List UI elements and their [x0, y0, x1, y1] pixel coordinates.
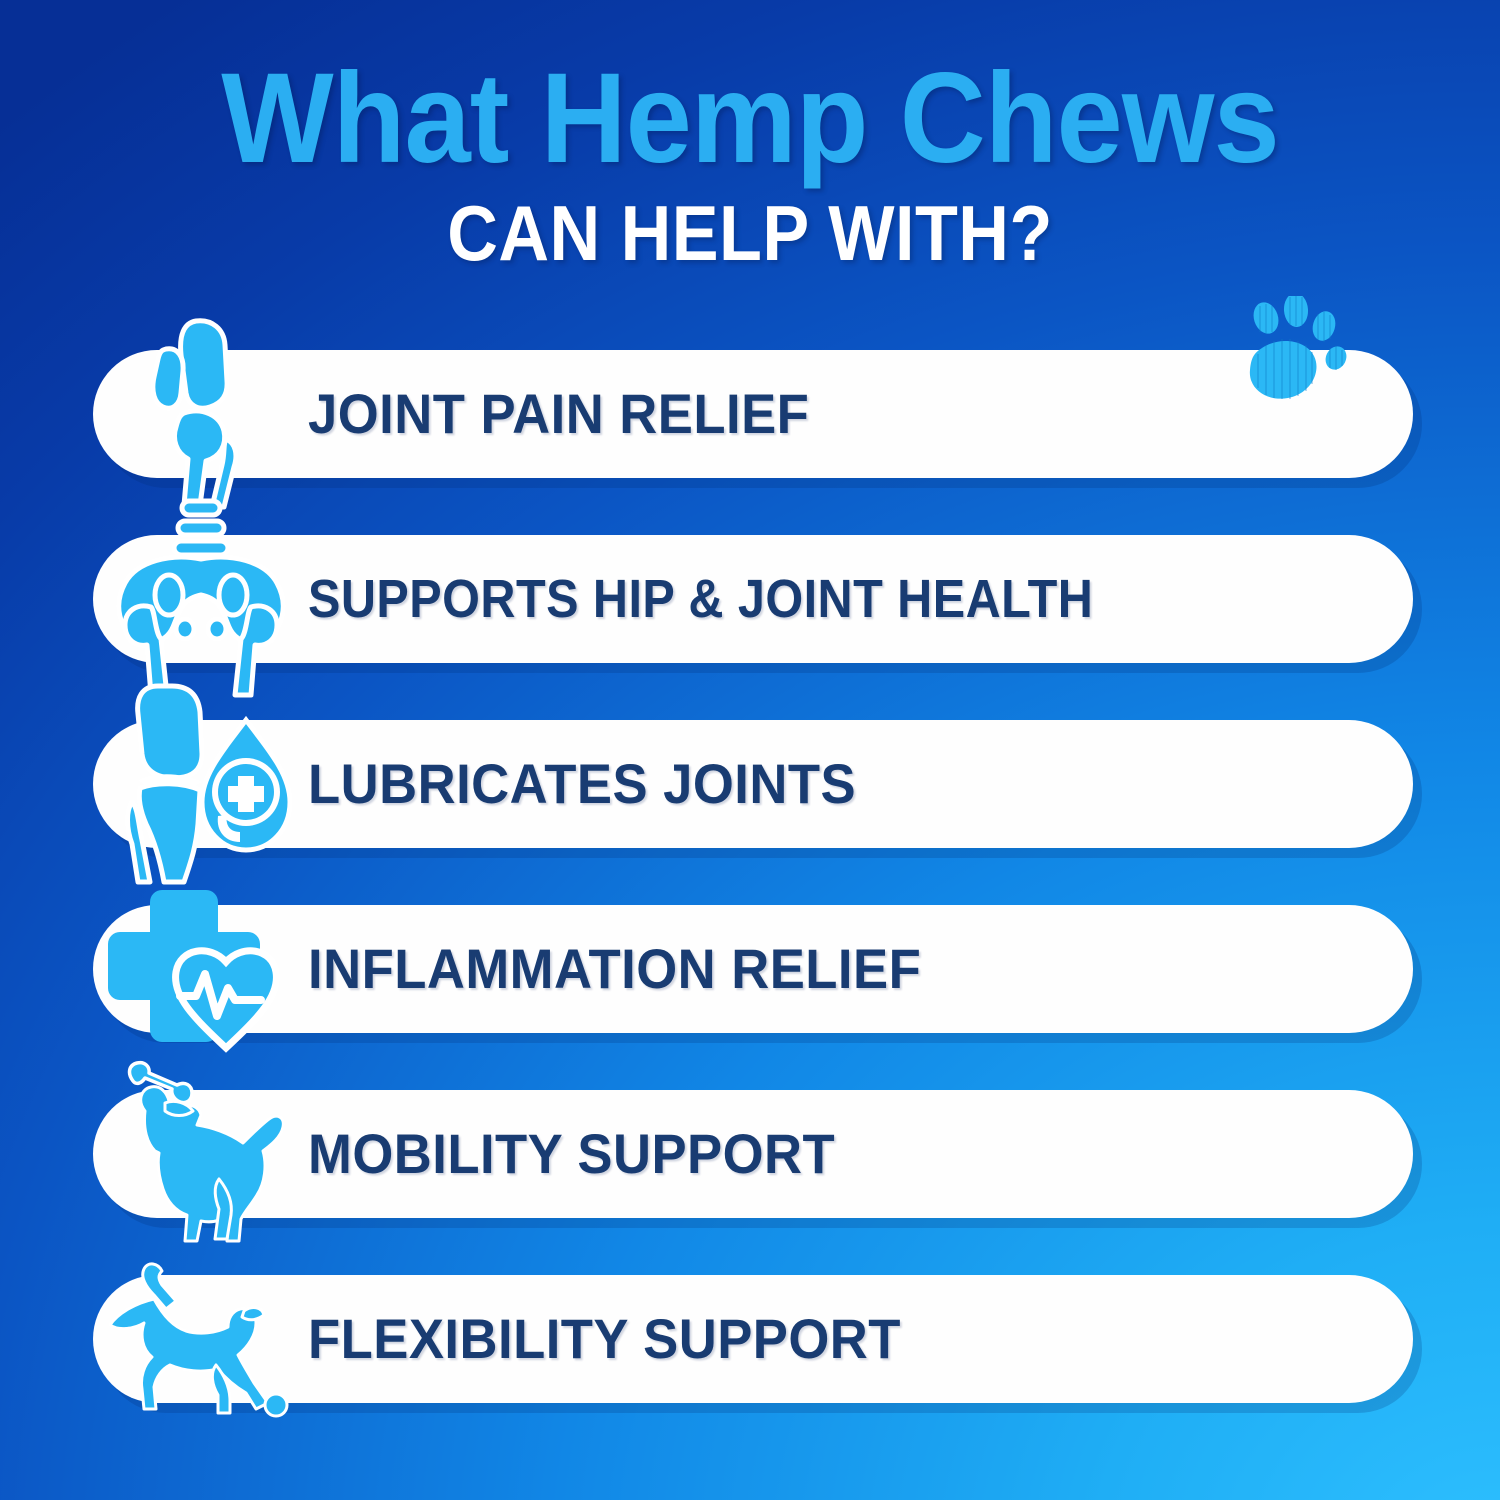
dog-leaping-with-ball-icon	[93, 1275, 308, 1403]
benefit-label: FLEXIBILITY SUPPORT	[308, 1311, 901, 1367]
benefit-row-mobility-support[interactable]: MOBILITY SUPPORT	[93, 1090, 1413, 1218]
benefit-label: MOBILITY SUPPORT	[308, 1126, 835, 1182]
hip-pelvis-bone-icon	[93, 535, 308, 663]
benefits-list: JOINT PAIN RELIEF	[93, 350, 1413, 1403]
medical-cross-heart-pulse-icon	[93, 905, 308, 1033]
headline-block: What Hemp Chews CAN HELP WITH?	[0, 58, 1500, 272]
knee-joint-bone-icon	[93, 350, 308, 478]
headline-primary: What Hemp Chews	[53, 58, 1448, 180]
benefit-label: JOINT PAIN RELIEF	[308, 386, 809, 442]
infographic-poster: What Hemp Chews CAN HELP WITH?	[0, 0, 1500, 1500]
benefit-row-flexibility-support[interactable]: FLEXIBILITY SUPPORT	[93, 1275, 1413, 1403]
benefit-row-joint-pain-relief[interactable]: JOINT PAIN RELIEF	[93, 350, 1413, 478]
knee-joint-water-drop-icon	[93, 720, 308, 848]
headline-secondary: CAN HELP WITH?	[75, 194, 1425, 272]
dog-standing-with-bone-icon	[93, 1090, 308, 1218]
benefit-row-inflammation-relief[interactable]: INFLAMMATION RELIEF	[93, 905, 1413, 1033]
benefit-label: LUBRICATES JOINTS	[308, 756, 856, 812]
benefit-label: INFLAMMATION RELIEF	[308, 941, 921, 997]
benefit-row-hip-joint-health[interactable]: SUPPORTS HIP & JOINT HEALTH	[93, 535, 1413, 663]
benefit-label: SUPPORTS HIP & JOINT HEALTH	[308, 572, 1093, 626]
benefit-row-lubricates-joints[interactable]: LUBRICATES JOINTS	[93, 720, 1413, 848]
